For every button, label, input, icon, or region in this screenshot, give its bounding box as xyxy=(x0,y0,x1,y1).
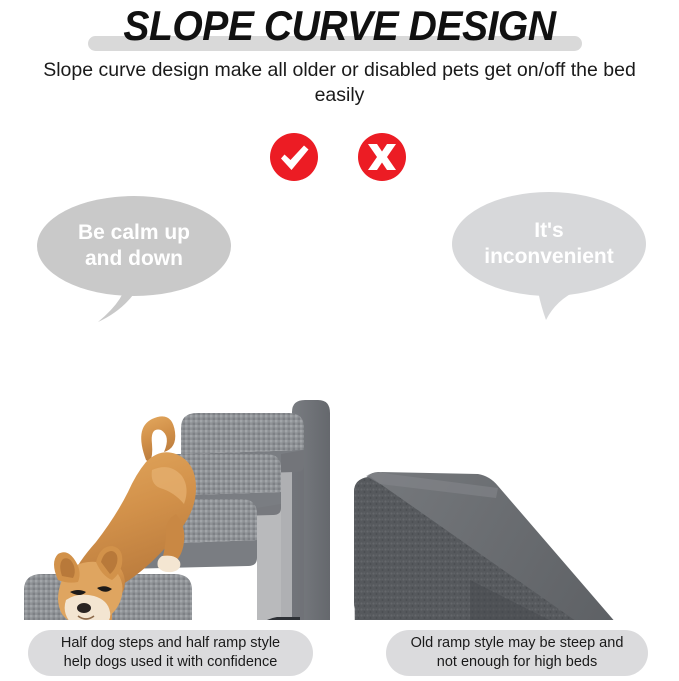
product-illustration-stage xyxy=(0,110,679,620)
pet-stairs-illustration xyxy=(20,400,330,620)
caption-left-line2: help dogs used it with confidence xyxy=(61,653,280,672)
product-comparison-infographic: SLOPE CURVE DESIGN Slope curve design ma… xyxy=(0,0,679,681)
caption-right-line1: Old ramp style may be steep and xyxy=(411,634,624,653)
speech-bubble-right-text: It's inconvenient xyxy=(484,218,614,270)
speech-bubble-left: Be calm up and down xyxy=(37,196,231,296)
stairs-riser-upper xyxy=(281,450,304,620)
speech-bubble-left-line2: and down xyxy=(78,246,190,272)
caption-right-line2: not enough for high beds xyxy=(411,653,624,672)
speech-bubble-right-line1: It's xyxy=(484,218,614,244)
dog-nose xyxy=(77,603,91,613)
speech-bubble-left-text: Be calm up and down xyxy=(78,220,190,272)
page-title: SLOPE CURVE DESIGN xyxy=(24,2,655,50)
stairs-riser-mid xyxy=(257,504,281,620)
ramp-illustration xyxy=(354,472,650,620)
speech-bubble-right: It's inconvenient xyxy=(452,192,646,296)
caption-right-text: Old ramp style may be steep and not enou… xyxy=(411,634,624,672)
caption-left-line1: Half dog steps and half ramp style xyxy=(61,634,280,653)
page-subtitle: Slope curve design make all older or dis… xyxy=(40,58,639,108)
speech-bubble-right-line2: inconvenient xyxy=(484,244,614,270)
caption-left: Half dog steps and half ramp style help … xyxy=(28,630,313,676)
caption-left-text: Half dog steps and half ramp style help … xyxy=(61,634,280,672)
speech-bubble-left-line1: Be calm up xyxy=(78,220,190,246)
caption-right: Old ramp style may be steep and not enou… xyxy=(386,630,648,676)
